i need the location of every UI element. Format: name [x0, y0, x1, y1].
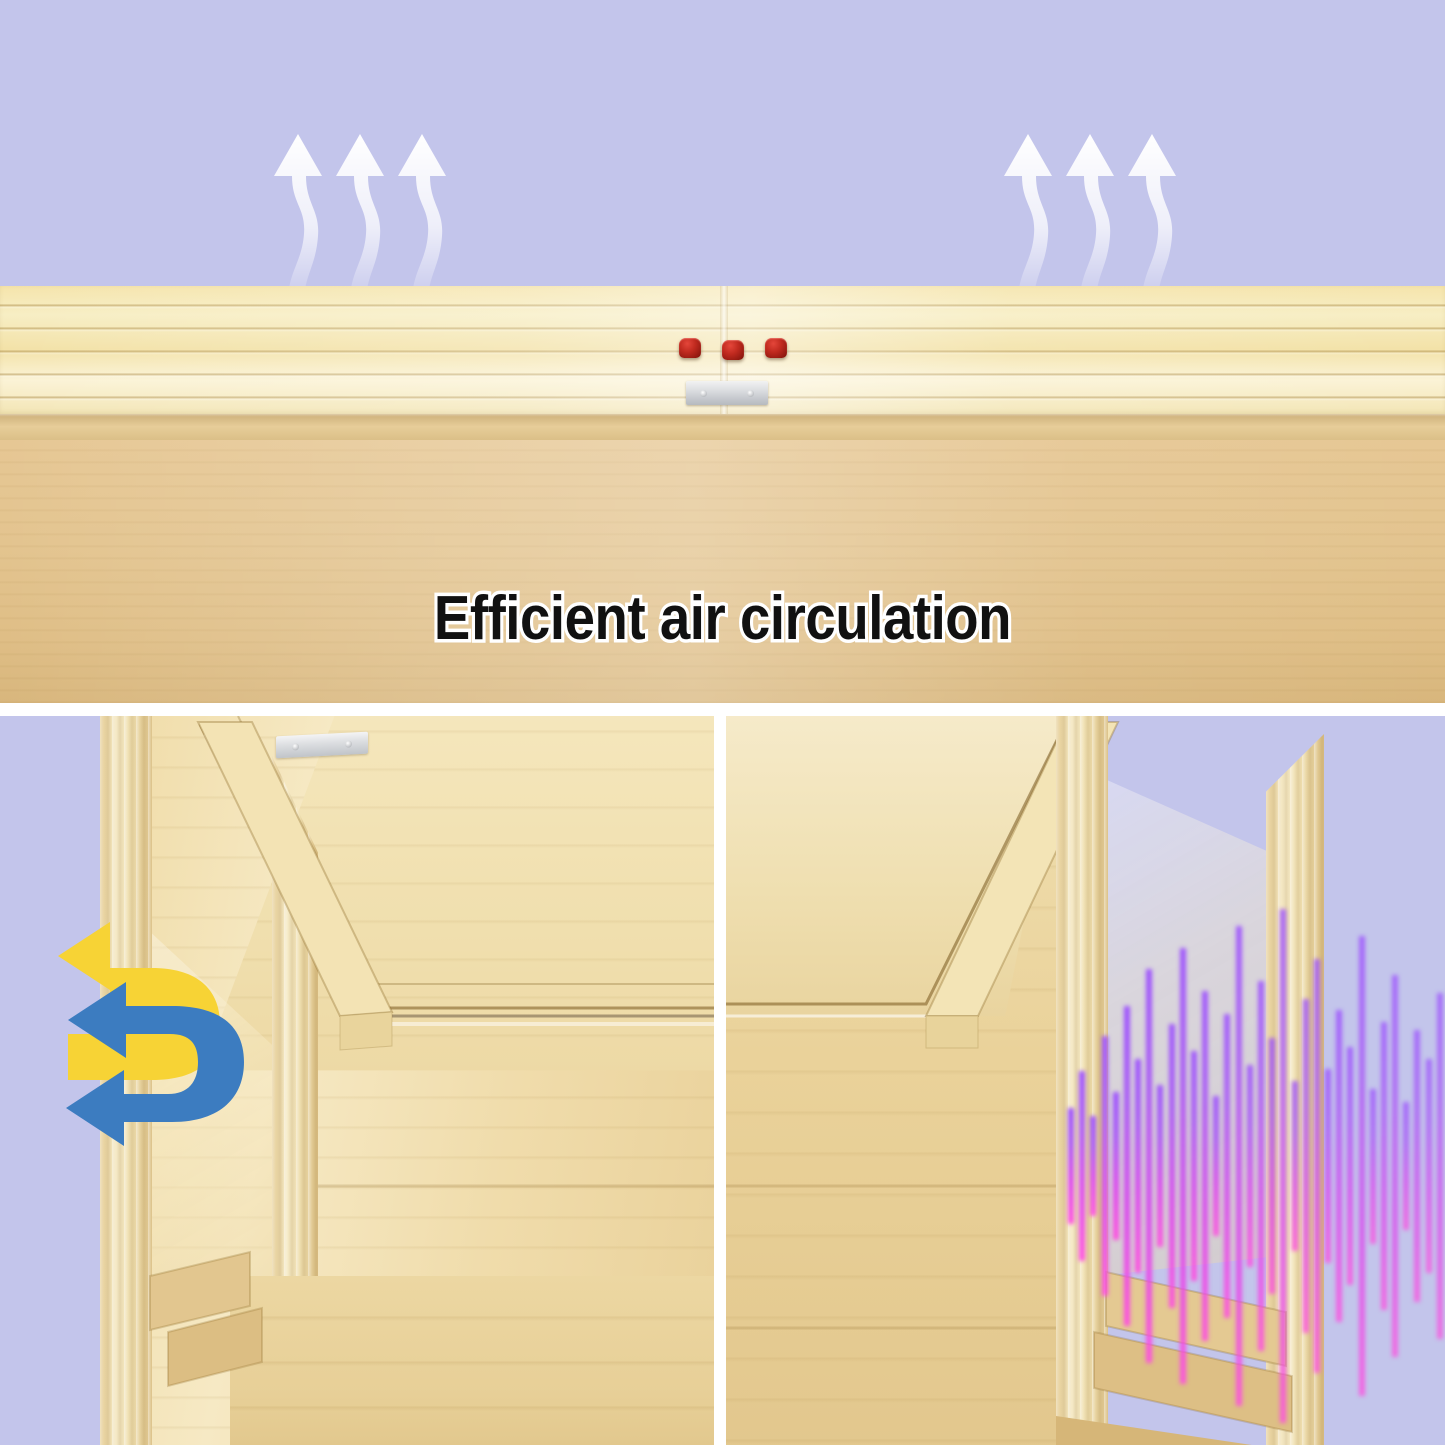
- screw-icon: [700, 390, 707, 397]
- rising-air-arrow: [258, 112, 488, 302]
- sound-wave-bar: [1213, 1096, 1219, 1235]
- sound-wave-bar: [1202, 991, 1208, 1342]
- sound-wave-bar: [1347, 1047, 1353, 1284]
- sound-wave-bar: [1079, 1071, 1085, 1261]
- sound-wave-bar: [1426, 1059, 1432, 1273]
- sound-wave-bar: [1135, 1059, 1141, 1273]
- lid-front-chamfer: [0, 414, 1445, 442]
- sound-wave-bar: [1146, 969, 1152, 1363]
- sound-wave-bar: [1269, 1038, 1275, 1295]
- screw-icon: [747, 390, 754, 397]
- sound-wave-bar: [1314, 959, 1320, 1372]
- sound-wave-bar: [1414, 1030, 1420, 1302]
- sound-wave-bar: [1359, 936, 1365, 1396]
- sound-wave-bar: [1247, 1065, 1253, 1267]
- sound-wave-bar: [1068, 1108, 1074, 1224]
- sound-wave-bar: [1258, 981, 1264, 1351]
- rising-air-arrow: [988, 112, 1218, 302]
- sound-wave-bar: [1437, 993, 1443, 1340]
- sound-wave-bar: [1180, 948, 1186, 1385]
- sound-wave-bar: [1236, 926, 1242, 1406]
- sound-wave-bar: [1336, 1010, 1342, 1321]
- air-circulation-panel: Efficient air circulation: [0, 0, 1445, 703]
- sound-wave-bar: [1403, 1102, 1409, 1230]
- sound-wave-bar: [1124, 1006, 1130, 1325]
- caption-air-circulation: Efficient air circulation: [87, 583, 1359, 654]
- sound-wave-bars: [1068, 906, 1445, 1426]
- metal-hinge-plate: [686, 381, 768, 405]
- sound-wave-bar: [1224, 1014, 1230, 1318]
- front-face-highlight: [0, 440, 1445, 703]
- sound-wave-bar: [1292, 1081, 1298, 1252]
- heat-retention-panel: Exceptional heat retention: [0, 716, 714, 1445]
- sound-wave-bar: [1370, 1089, 1376, 1244]
- heat-arrow-outer: [58, 922, 220, 1080]
- sound-wave-bar: [1280, 909, 1286, 1424]
- sound-wave-bar: [1303, 999, 1309, 1334]
- circulating-heat-arrows: [52, 914, 322, 1184]
- red-indicator-light[interactable]: [722, 340, 744, 360]
- rising-air-arrows-left: [258, 112, 488, 302]
- sound-wave-bar: [1169, 1024, 1175, 1308]
- acoustic-insulation-panel: Excellent acoustic insulation: [726, 716, 1445, 1445]
- product-infographic: Efficient air circulation: [0, 0, 1445, 1445]
- sound-wave-bar: [1090, 1116, 1096, 1216]
- red-indicator-light[interactable]: [765, 338, 787, 358]
- sound-wave-bar: [1392, 975, 1398, 1357]
- sound-wave-bar: [1325, 1069, 1331, 1263]
- sound-wave-bar: [1381, 1022, 1387, 1310]
- sound-wave-bar: [1191, 1051, 1197, 1280]
- sound-wave-bar: [1102, 1036, 1108, 1297]
- sound-wave-bar: [1113, 1092, 1119, 1239]
- sound-wave-bar: [1157, 1085, 1163, 1248]
- rising-air-arrows-right: [988, 112, 1218, 302]
- red-indicator-light[interactable]: [679, 338, 701, 358]
